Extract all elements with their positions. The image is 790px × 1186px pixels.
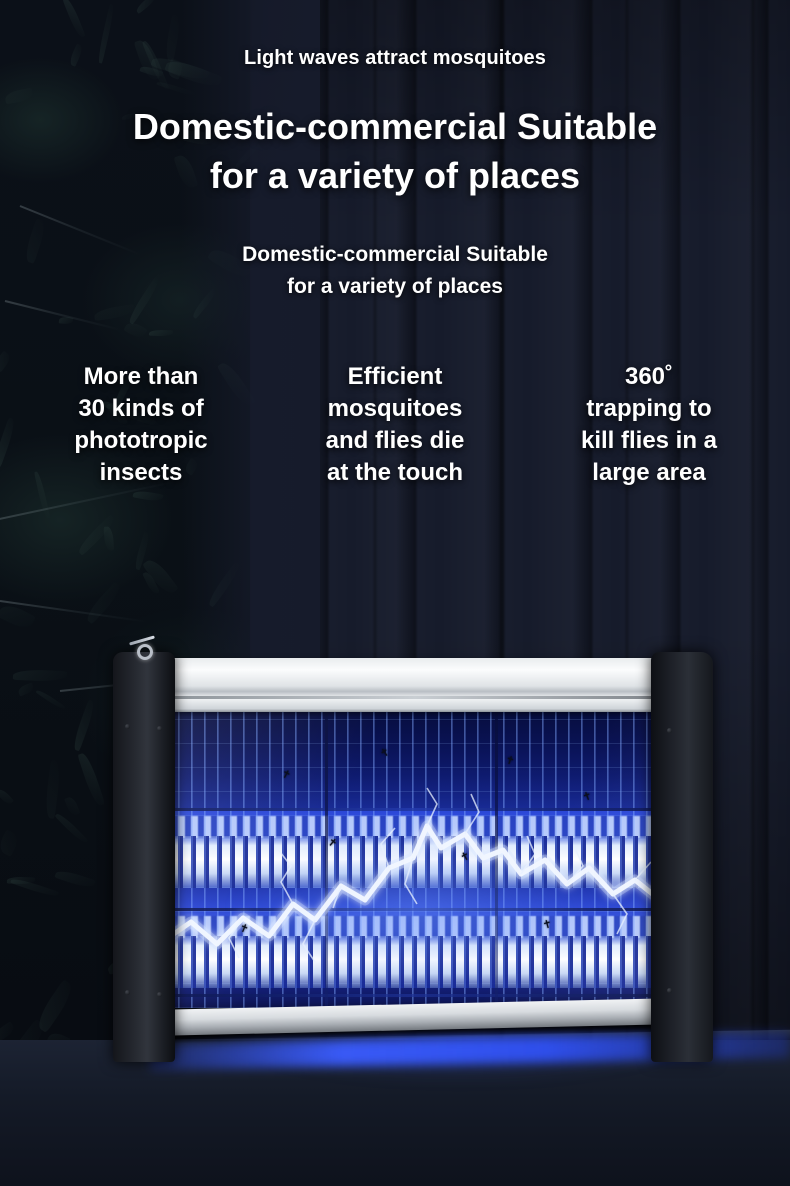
subheadline: Domestic-commercial Suitable for a varie… (0, 239, 790, 303)
post-screw (125, 990, 130, 995)
feature-360-trapping: 360˚ trapping to kill flies in a large a… (530, 361, 768, 489)
feature-line: Efficient (276, 361, 514, 393)
subhead-line-1: Domestic-commercial Suitable (0, 239, 790, 271)
feature-line: More than (22, 361, 260, 393)
uv-insect-killer-lamp: ✝ ✝ ✝ ✝ ✝ ✝ ✝ ✝ (113, 652, 713, 1062)
foliage-leaf (43, 760, 61, 819)
feature-line: 30 kinds of (22, 393, 260, 425)
foliage-leaf (78, 751, 105, 806)
right-housing-post (651, 652, 713, 1062)
foliage-leaf (54, 811, 88, 845)
post-screw (157, 992, 162, 997)
foliage-leaf (0, 788, 14, 807)
foliage-leaf (149, 329, 173, 336)
feature-line: at the touch (276, 457, 514, 489)
feature-phototropic-insects: More than 30 kinds of phototropic insect… (22, 361, 260, 489)
feature-line: trapping to (530, 393, 768, 425)
post-screw (157, 726, 162, 731)
left-housing-post (113, 652, 175, 1062)
feature-list: More than 30 kinds of phototropic insect… (0, 361, 790, 489)
post-screw (125, 724, 130, 729)
feature-line: and flies die (276, 425, 514, 457)
post-screw (667, 988, 672, 993)
foliage-leaf (65, 795, 81, 816)
eyebrow-caption: Light waves attract mosquitoes (0, 47, 790, 70)
feature-line: large area (530, 457, 768, 489)
feature-line: kill flies in a (530, 425, 768, 457)
feature-line: 360˚ (530, 361, 768, 393)
foliage-leaf (16, 683, 34, 697)
foliage-leaf (34, 979, 78, 1033)
feature-line: insects (22, 457, 260, 489)
foliage-leaf (13, 669, 67, 682)
headline-line-1: Domestic-commercial Suitable (0, 103, 790, 152)
foliage-leaf (124, 320, 149, 341)
foliage-leaf (0, 829, 21, 857)
foliage-leaf (135, 0, 159, 15)
subhead-line-2: for a variety of places (0, 271, 790, 303)
top-rail-groove (159, 696, 671, 699)
feature-line: phototropic (22, 425, 260, 457)
headline-line-2: for a variety of places (0, 152, 790, 201)
foliage-leaf (63, 0, 86, 39)
hanging-hook-icon (137, 644, 153, 660)
feature-efficient-kill: Efficient mosquitoes and flies die at th… (276, 361, 514, 489)
page-title: Domestic-commercial Suitable for a varie… (0, 103, 790, 201)
feature-line: mosquitoes (276, 393, 514, 425)
foliage-leaf (132, 490, 163, 503)
foliage-leaf (71, 700, 97, 752)
foliage-leaf (0, 1022, 16, 1042)
electric-arc (165, 708, 665, 1008)
foliage-leaf (103, 526, 113, 550)
top-aluminium-rail (157, 658, 673, 712)
post-screw (667, 728, 672, 733)
foliage-leaf (54, 868, 96, 890)
